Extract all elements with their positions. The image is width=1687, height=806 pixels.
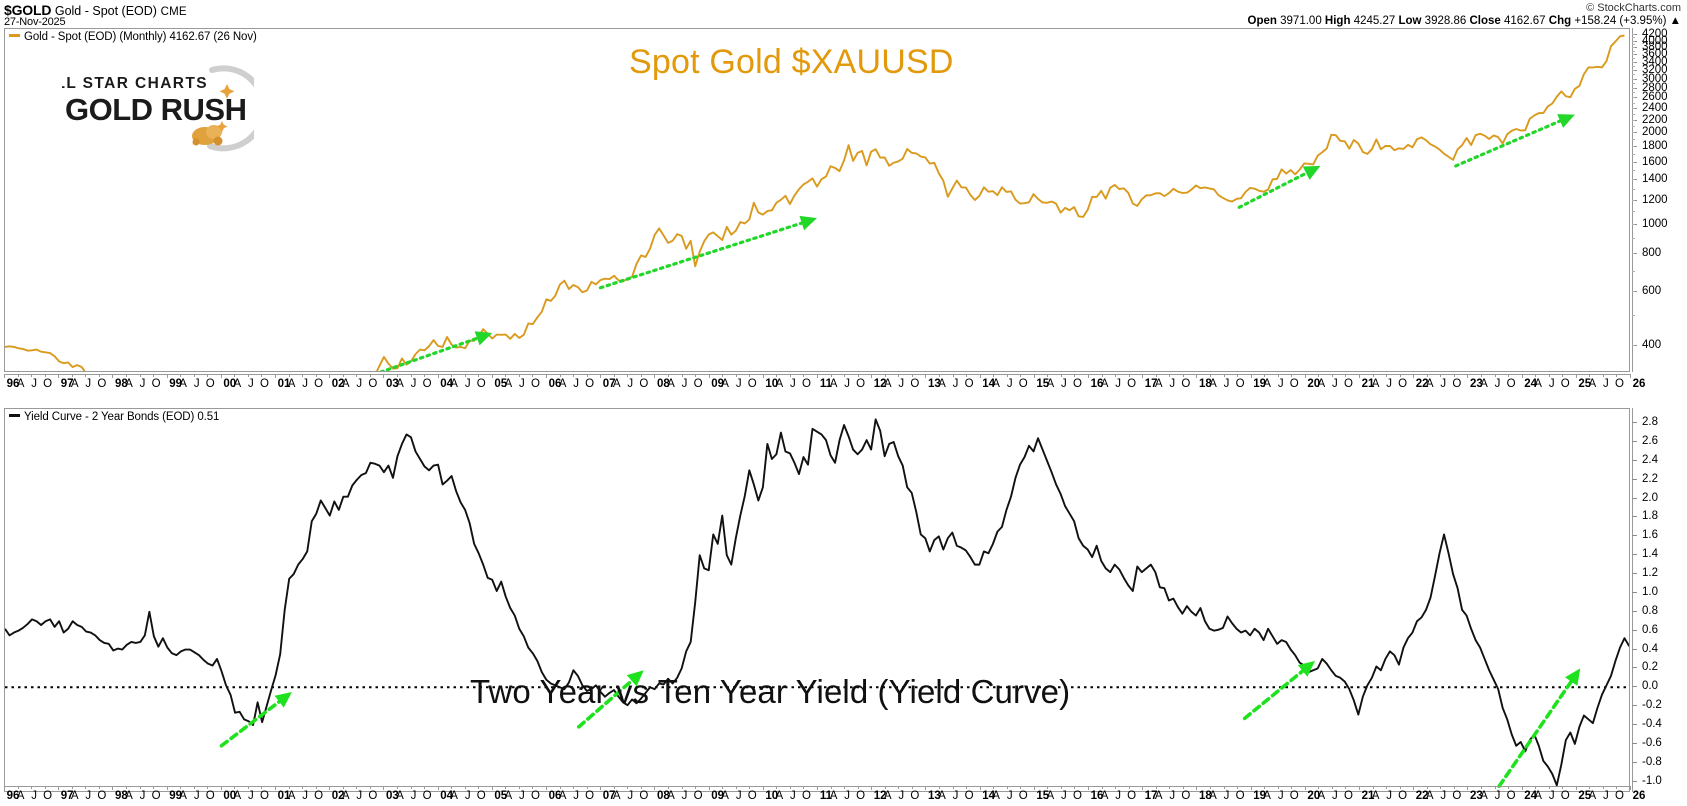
yield-x-month-label: O (1127, 790, 1136, 802)
open-value: 3971.00 (1280, 15, 1322, 27)
gold-y-minor-tick (1632, 253, 1635, 254)
gold-x-month-tick (560, 374, 561, 377)
gold-y-minor-tick (1632, 179, 1635, 180)
yield-x-year-tick (1196, 786, 1197, 790)
gold-x-month-tick (1549, 374, 1550, 377)
gold-x-month-label: A (1047, 378, 1055, 390)
gold-x-month-tick (1495, 374, 1496, 377)
yield-x-month-tick (587, 786, 588, 789)
yield-x-month-label: J (1603, 790, 1609, 802)
gold-x-year-tick (1576, 374, 1577, 378)
gold-x-month-tick (356, 374, 357, 377)
yield-x-month-label: J (1332, 790, 1338, 802)
yield-x-month-label: A (1372, 790, 1380, 802)
gold-y-minor-tick (1632, 47, 1635, 48)
yield-x-month-label: O (43, 790, 52, 802)
yield-x-month-tick (1318, 786, 1319, 789)
gold-x-month-tick (45, 374, 46, 377)
yield-y-label: 2.0 (1642, 492, 1658, 504)
yield-x-month-label: J (1495, 790, 1501, 802)
yield-x-month-tick (885, 786, 886, 789)
gold-x-month-tick (993, 374, 994, 377)
gold-x-year-tick (329, 374, 330, 378)
gold-x-month-label: O (1181, 378, 1190, 390)
yield-x-month-tick (1440, 786, 1441, 789)
yield-y-label: 0.8 (1642, 605, 1658, 617)
yield-x-month-label: O (97, 790, 106, 802)
gold-x-month-label: O (856, 378, 865, 390)
yield-x-month-label: O (314, 790, 323, 802)
yield-x-month-tick (627, 786, 628, 789)
gold-x-month-label: O (206, 378, 215, 390)
gold-x-month-label: A (1534, 378, 1542, 390)
gold-x-month-label: J (1169, 378, 1175, 390)
gold-x-month-label: A (125, 378, 133, 390)
yield-x-month-label: A (559, 790, 567, 802)
gold-x-month-label: J (85, 378, 91, 390)
gold-x-month-tick (478, 374, 479, 377)
gold-y-minor-tick (1632, 97, 1635, 98)
gold-x-month-label: A (776, 378, 784, 390)
gold-x-month-tick (1007, 374, 1008, 377)
gold-y-label: 2400 (1642, 102, 1668, 114)
gold-x-month-tick (1291, 374, 1292, 377)
yield-x-month-tick (1264, 786, 1265, 789)
gold-x-month-tick (790, 374, 791, 377)
gold-x-month-tick (451, 374, 452, 377)
yield-x-year-label: 26 (1633, 790, 1646, 802)
gold-x-year-tick (980, 374, 981, 378)
yield-x-month-label: O (694, 790, 703, 802)
gold-x-month-tick (343, 374, 344, 377)
low-value: 3928.86 (1425, 15, 1467, 27)
yield-y-label: 1.6 (1642, 529, 1658, 541)
yield-x-month-tick (1074, 786, 1075, 789)
yield-x-month-tick (343, 786, 344, 789)
yield-x-month-tick (912, 786, 913, 789)
yield-y-tick (1632, 479, 1637, 480)
gold-x-month-tick (1332, 374, 1333, 377)
gold-chart-title: Spot Gold $XAUUSD (629, 43, 954, 82)
yield-x-month-tick (207, 786, 208, 789)
gold-x-month-tick (370, 374, 371, 377)
yield-x-month-tick (302, 786, 303, 789)
gold-y-label: 1600 (1642, 156, 1668, 168)
gold-x-month-tick (1115, 374, 1116, 377)
gold-x-month-label: A (884, 378, 892, 390)
yield-y-tick (1632, 649, 1637, 650)
yield-x-month-label: A (938, 790, 946, 802)
gold-x-year-tick (1413, 374, 1414, 378)
yield-x-month-label: O (1181, 790, 1190, 802)
yield-x-month-tick (749, 786, 750, 789)
yield-x-month-label: J (627, 790, 633, 802)
yield-y-label: 1.2 (1642, 567, 1658, 579)
gold-x-month-label: J (736, 378, 742, 390)
gold-x-month-label: O (314, 378, 323, 390)
gold-x-month-label: A (1209, 378, 1217, 390)
gold-y-minor-tick (1632, 74, 1635, 75)
yield-x-month-label: O (748, 790, 757, 802)
yield-x-month-tick (1278, 786, 1279, 789)
gold-y-minor-tick (1632, 146, 1635, 147)
gold-x-month-label: J (248, 378, 254, 390)
yield-y-label: 1.0 (1642, 586, 1658, 598)
yield-legend: Yield Curve - 2 Year Bonds (EOD) 0.51 (9, 411, 219, 423)
gold-x-month-tick (1047, 374, 1048, 377)
yield-x-month-tick (614, 786, 615, 789)
gold-y-label: 2000 (1642, 126, 1668, 138)
yield-x-year-tick (1251, 786, 1252, 790)
yield-x-month-label: J (85, 790, 91, 802)
all-star-charts-gold-rush-logo: ALL STAR CHARTS GOLD RUSH (62, 62, 254, 154)
yield-x-year-tick (925, 786, 926, 790)
yield-x-month-label: A (1047, 790, 1055, 802)
gold-y-label: 1800 (1642, 140, 1668, 152)
gold-x-month-label: A (1318, 378, 1326, 390)
yield-x-month-tick (370, 786, 371, 789)
yield-x-axis: 96AJO97AJO98AJO99AJO00AJO01AJO02AJO03AJO… (4, 786, 1630, 806)
change-label: Chg (1549, 15, 1571, 27)
gold-x-year-tick (654, 374, 655, 378)
gold-x-month-tick (1427, 374, 1428, 377)
yield-x-month-tick (966, 786, 967, 789)
yield-x-month-label: O (1561, 790, 1570, 802)
gold-y-label: 2200 (1642, 114, 1668, 126)
yield-chart-title: Two Year vs Ten Year Yield (Yield Curve) (470, 673, 1070, 711)
gold-x-month-tick (803, 374, 804, 377)
yield-x-year-tick (654, 786, 655, 790)
yield-x-month-label: J (194, 790, 200, 802)
yield-x-month-label: J (1386, 790, 1392, 802)
yield-x-month-label: A (776, 790, 784, 802)
yield-x-month-tick (99, 786, 100, 789)
gold-x-month-label: J (1549, 378, 1555, 390)
yield-x-year-tick (1359, 786, 1360, 790)
yield-x-month-label: A (613, 790, 621, 802)
gold-x-month-tick (627, 374, 628, 377)
yield-x-month-label: O (1019, 790, 1028, 802)
gold-x-month-tick (1278, 374, 1279, 377)
gold-x-month-tick (1061, 374, 1062, 377)
gold-x-month-label: O (1019, 378, 1028, 390)
yield-x-month-tick (261, 786, 262, 789)
yield-x-month-tick (1481, 786, 1482, 789)
yield-x-month-label: A (71, 790, 79, 802)
gold-y-minor-tick (1632, 51, 1635, 52)
yield-x-month-tick (1345, 786, 1346, 789)
gold-x-year-tick (1305, 374, 1306, 378)
yield-x-month-tick (1007, 786, 1008, 789)
gold-x-month-tick (194, 374, 195, 377)
yield-x-month-label: O (856, 790, 865, 802)
gold-x-month-tick (1210, 374, 1211, 377)
yield-x-month-tick (776, 786, 777, 789)
yield-y-label: 0.0 (1642, 680, 1658, 692)
yield-x-month-label: O (477, 790, 486, 802)
yield-trend-arrow (1245, 661, 1315, 719)
gold-x-month-label: J (1332, 378, 1338, 390)
yield-x-month-tick (1183, 786, 1184, 789)
yield-y-label: 0.2 (1642, 661, 1658, 673)
yield-x-year-tick (329, 786, 330, 790)
gold-x-month-label: A (1263, 378, 1271, 390)
gold-x-year-tick (546, 374, 547, 378)
gold-x-month-label: A (613, 378, 621, 390)
yield-x-month-tick (1237, 786, 1238, 789)
gold-y-minor-tick (1632, 103, 1635, 104)
yield-x-month-tick (505, 786, 506, 789)
gold-x-month-tick (1129, 374, 1130, 377)
quote-date: 27-Nov-2025 (4, 16, 65, 28)
yield-x-month-label: A (1480, 790, 1488, 802)
gold-x-month-label: J (1061, 378, 1067, 390)
yield-x-month-tick (831, 786, 832, 789)
gold-x-year-tick (1251, 374, 1252, 378)
gold-x-month-label: A (288, 378, 296, 390)
close-value: 4162.67 (1504, 15, 1546, 27)
yield-y-label: 2.4 (1642, 454, 1658, 466)
yield-x-month-label: O (1073, 790, 1082, 802)
yield-x-month-tick (1061, 786, 1062, 789)
yield-x-month-label: A (1101, 790, 1109, 802)
gold-x-month-tick (248, 374, 249, 377)
gold-x-month-label: J (31, 378, 37, 390)
gold-x-month-tick (99, 374, 100, 377)
yield-x-month-label: A (505, 790, 513, 802)
yield-x-month-label: J (519, 790, 525, 802)
gold-x-month-tick (736, 374, 737, 377)
yield-x-month-tick (1603, 786, 1604, 789)
gold-x-month-label: O (748, 378, 757, 390)
gold-x-month-label: O (910, 378, 919, 390)
gold-x-month-label: O (97, 378, 106, 390)
gold-x-month-tick (1318, 374, 1319, 377)
gold-y-minor-tick (1632, 83, 1635, 84)
low-label: Low (1398, 15, 1421, 27)
yield-x-month-tick (695, 786, 696, 789)
yield-x-month-tick (1224, 786, 1225, 789)
yield-y-label: -0.2 (1642, 699, 1662, 711)
gold-x-month-label: J (953, 378, 959, 390)
gold-y-label: 1000 (1642, 218, 1668, 230)
gold-x-month-tick (939, 374, 940, 377)
yield-x-month-tick (953, 786, 954, 789)
yield-x-month-label: O (965, 790, 974, 802)
gold-y-minor-tick (1632, 291, 1635, 292)
gold-x-month-label: O (1452, 378, 1461, 390)
yield-y-tick (1632, 592, 1637, 593)
yield-x-year-tick (1467, 786, 1468, 790)
gold-x-year-tick (383, 374, 384, 378)
yield-y-label: 2.2 (1642, 473, 1658, 485)
yield-x-month-label: J (1061, 790, 1067, 802)
yield-x-year-tick (4, 786, 5, 790)
yield-x-month-label: O (1398, 790, 1407, 802)
yield-x-month-label: O (1507, 790, 1516, 802)
yield-x-month-label: A (396, 790, 404, 802)
gold-y-minor-tick (1632, 211, 1635, 212)
gold-x-month-label: A (1372, 378, 1380, 390)
gold-x-month-tick (898, 374, 899, 377)
yield-x-month-label: A (667, 790, 675, 802)
gold-x-month-label: A (505, 378, 513, 390)
yield-y-tick (1632, 498, 1637, 499)
gold-x-month-tick (1264, 374, 1265, 377)
gold-x-month-tick (1454, 374, 1455, 377)
gold-x-month-tick (573, 374, 574, 377)
yield-y-tick (1632, 762, 1637, 763)
stockcharts-credit: © StockCharts.com (1586, 2, 1681, 14)
yield-x-month-tick (668, 786, 669, 789)
gold-x-month-tick (1535, 374, 1536, 377)
gold-x-month-tick (953, 374, 954, 377)
gold-y-minor-tick (1632, 62, 1635, 63)
gold-x-month-label: O (368, 378, 377, 390)
yield-x-month-tick (844, 786, 845, 789)
gold-x-month-label: O (1127, 378, 1136, 390)
yield-x-month-tick (1386, 786, 1387, 789)
gold-x-month-tick (1589, 374, 1590, 377)
yield-x-year-tick (383, 786, 384, 790)
gold-y-minor-tick (1632, 162, 1635, 163)
yield-x-month-label: O (368, 790, 377, 802)
gold-y-minor-tick (1632, 92, 1635, 93)
gold-x-month-tick (1440, 374, 1441, 377)
yield-x-month-tick (397, 786, 398, 789)
gold-legend: Gold - Spot (EOD) (Monthly) 4162.67 (26 … (9, 31, 257, 43)
yield-x-month-label: O (152, 790, 161, 802)
yield-x-month-label: J (736, 790, 742, 802)
yield-x-month-tick (858, 786, 859, 789)
yield-x-month-label: A (1318, 790, 1326, 802)
yield-x-month-tick (194, 786, 195, 789)
yield-x-year-tick (600, 786, 601, 790)
gold-x-month-tick (31, 374, 32, 377)
yield-x-month-tick (560, 786, 561, 789)
yield-x-month-tick (316, 786, 317, 789)
gold-x-month-tick (587, 374, 588, 377)
yield-y-label: -0.4 (1642, 718, 1662, 730)
yield-x-month-label: J (1440, 790, 1446, 802)
yield-x-month-label: J (1169, 790, 1175, 802)
yield-x-month-label: A (884, 790, 892, 802)
yield-y-tick (1632, 743, 1637, 744)
yield-x-month-label: O (910, 790, 919, 802)
gold-x-month-label: J (1115, 378, 1121, 390)
yield-y-label: -1.0 (1642, 775, 1662, 787)
gold-x-year-tick (600, 374, 601, 378)
gold-x-month-label: O (1398, 378, 1407, 390)
gold-x-month-label: A (179, 378, 187, 390)
gold-y-label: 600 (1642, 285, 1661, 297)
gold-x-month-label: A (1426, 378, 1434, 390)
gold-x-month-label: J (465, 378, 471, 390)
yield-x-month-label: A (992, 790, 1000, 802)
yield-curve-line (5, 419, 1629, 785)
gold-x-month-tick (1386, 374, 1387, 377)
yield-x-year-tick (1305, 786, 1306, 790)
yield-x-month-label: A (1263, 790, 1271, 802)
yield-x-month-tick (1454, 786, 1455, 789)
yield-x-year-tick (709, 786, 710, 790)
yield-x-month-tick (153, 786, 154, 789)
gold-y-label: 400 (1642, 339, 1661, 351)
yield-x-month-tick (790, 786, 791, 789)
yield-x-month-label: J (1007, 790, 1013, 802)
gold-x-year-tick (58, 374, 59, 378)
gold-x-month-label: A (559, 378, 567, 390)
yield-x-month-tick (1562, 786, 1563, 789)
high-label: High (1325, 15, 1351, 27)
gold-x-month-tick (289, 374, 290, 377)
yield-x-year-tick (1576, 786, 1577, 790)
gold-x-month-label: J (411, 378, 417, 390)
gold-x-month-tick (831, 374, 832, 377)
gold-x-month-label: J (302, 378, 308, 390)
gold-y-minor-tick (1632, 315, 1635, 316)
gold-x-month-label: J (1495, 378, 1501, 390)
yield-x-year-tick (1088, 786, 1089, 790)
gold-y-minor-tick (1632, 126, 1635, 127)
gold-x-month-label: J (844, 378, 850, 390)
gold-x-month-label: O (43, 378, 52, 390)
gold-x-year-tick (167, 374, 168, 378)
gold-x-month-label: O (1507, 378, 1516, 390)
yield-x-month-label: O (531, 790, 540, 802)
gold-x-month-label: A (1589, 378, 1597, 390)
gold-trend-arrow (308, 331, 492, 371)
gold-y-minor-tick (1632, 79, 1635, 80)
gold-x-year-tick (871, 374, 872, 378)
gold-x-year-tick (925, 374, 926, 378)
yield-y-tick (1632, 535, 1637, 536)
gold-x-month-label: O (965, 378, 974, 390)
yield-x-month-tick (180, 786, 181, 789)
gold-y-minor-tick (1632, 88, 1635, 89)
yield-x-month-tick (140, 786, 141, 789)
gold-x-month-tick (465, 374, 466, 377)
yield-y-label: -0.6 (1642, 737, 1662, 749)
gold-x-month-tick (532, 374, 533, 377)
yield-x-year-tick (817, 786, 818, 790)
gold-x-year-tick (1522, 374, 1523, 378)
yield-y-label: 0.6 (1642, 624, 1658, 636)
gold-x-month-tick (858, 374, 859, 377)
gold-x-month-label: J (1278, 378, 1284, 390)
gold-y-minor-tick (1632, 224, 1635, 225)
yield-x-month-tick (72, 786, 73, 789)
gold-y-label: 800 (1642, 247, 1661, 259)
yield-y-axis-rule (1632, 408, 1633, 792)
gold-x-year-tick (1088, 374, 1089, 378)
gold-x-month-label: O (531, 378, 540, 390)
yield-x-month-label: J (1278, 790, 1284, 802)
ohlc-quote-bar: Open 3971.00 High 4245.27 Low 3928.86 Cl… (1248, 15, 1681, 27)
gold-x-month-tick (776, 374, 777, 377)
gold-x-month-tick (316, 374, 317, 377)
yield-x-month-tick (736, 786, 737, 789)
yield-y-tick (1632, 781, 1637, 782)
gold-x-month-tick (180, 374, 181, 377)
gold-x-month-label: O (694, 378, 703, 390)
gold-x-month-label: J (898, 378, 904, 390)
gold-x-month-tick (1616, 374, 1617, 377)
gold-x-month-tick (505, 374, 506, 377)
gold-x-month-tick (614, 374, 615, 377)
yield-x-month-label: J (898, 790, 904, 802)
yield-y-tick (1632, 441, 1637, 442)
